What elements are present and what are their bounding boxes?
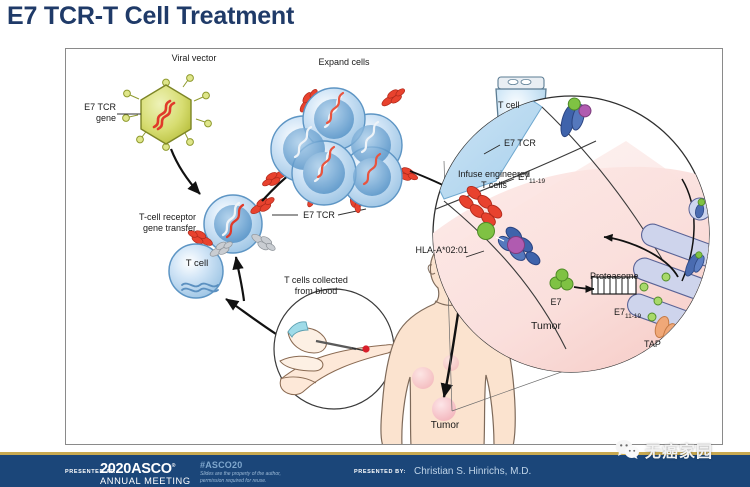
tcell-graphic <box>169 238 235 298</box>
slide-root: E7 TCR-T Cell Treatment <box>0 0 750 487</box>
asco-logo-trademark: ® <box>172 463 175 469</box>
expanded-cells-graphic <box>260 85 420 214</box>
asco-logo: 2020ASCO® ANNUAL MEETING <box>100 459 191 487</box>
asco-logo-subtitle: ANNUAL MEETING <box>100 476 191 487</box>
asco-footer-bar: PRESENTED AT: 2020ASCO® ANNUAL MEETING #… <box>0 452 750 487</box>
blood-draw-graphic <box>274 289 395 409</box>
figure-illustration <box>66 49 723 445</box>
conference-hashtag: #ASCO20 <box>200 460 242 470</box>
rights-notice: Slides are the property of the author, p… <box>200 471 281 484</box>
viral-vector-graphic <box>123 75 212 151</box>
asco-logo-name: ASCO <box>131 461 172 477</box>
asco-logo-year: 2020 <box>100 461 131 477</box>
presented-by-label: PRESENTED BY: <box>354 469 406 475</box>
page-title: E7 TCR-T Cell Treatment <box>7 2 294 31</box>
speaker-name: Christian S. Hinrichs, M.D. <box>414 466 531 477</box>
figure-panel: Viral vector E7 TCR gene T-cell receptor… <box>65 48 723 445</box>
